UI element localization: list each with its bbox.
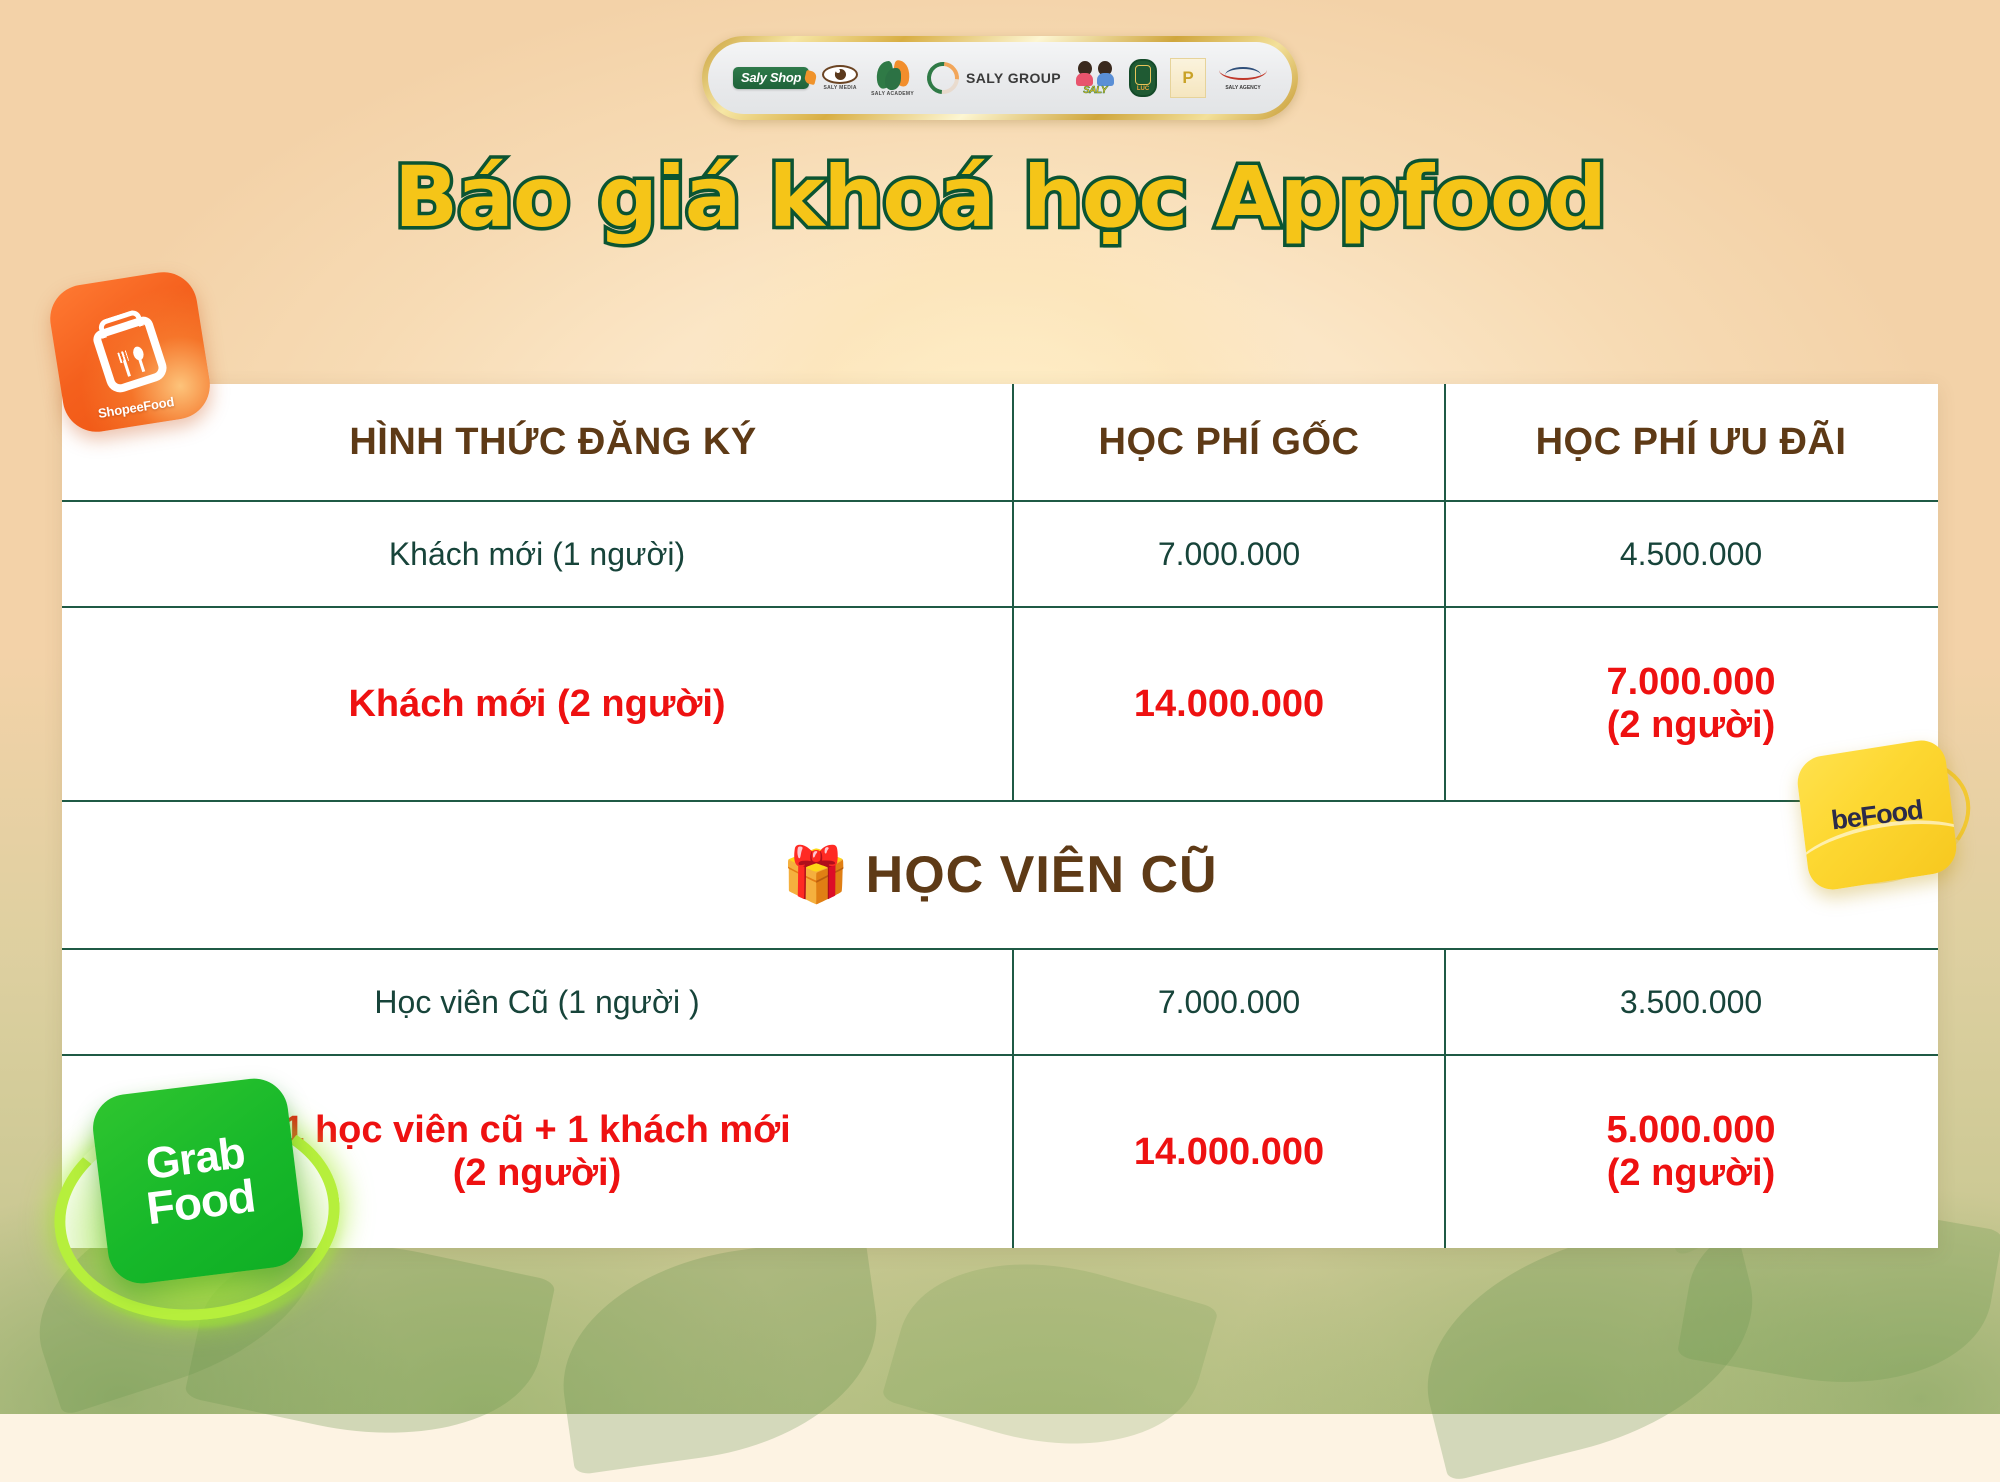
shopeefood-logo: ShopeeFood	[56, 278, 216, 433]
gift-icon: 🎁	[782, 848, 849, 902]
logo-luc: LUC	[1129, 59, 1157, 97]
befood-label: beFood	[1830, 794, 1925, 836]
logo-saly-academy-people: SALY	[1074, 60, 1116, 96]
leaf-v-icon	[876, 60, 910, 90]
logo-saly-group: SALY GROUP	[927, 62, 1061, 94]
fork-icon	[117, 350, 134, 378]
leaf-decoration	[548, 1233, 893, 1476]
befood-logo: beFood	[1802, 748, 1972, 898]
table-row: Khách mới (2 người) 14.000.000 7.000.000…	[62, 608, 1938, 802]
cell-form: Khách mới (1 người)	[389, 536, 685, 573]
cell-discount-fee: 7.000.000 (2 người)	[1606, 661, 1775, 746]
luc-label: LUC	[1137, 86, 1149, 92]
section-banner-alumni: 🎁 HỌC VIÊN CŨ	[62, 802, 1938, 950]
cell-original-fee: 14.000.000	[1134, 1131, 1324, 1174]
saly-shop-label: Saly Shop	[733, 67, 809, 89]
column-header-original-fee: HỌC PHÍ GỐC	[1099, 421, 1360, 464]
grabfood-label-line2: Food	[144, 1173, 257, 1231]
cell-form: 1 học viên cũ + 1 khách mới (2 người)	[283, 1109, 791, 1194]
two-people-icon: SALY	[1074, 60, 1116, 96]
table-header-row: HÌNH THỨC ĐĂNG KÝ HỌC PHÍ GỐC HỌC PHÍ ƯU…	[62, 384, 1938, 502]
logo-saly-media: SALY MEDIA	[822, 65, 858, 91]
cell-form: Khách mới (2 người)	[348, 683, 725, 726]
page-title: Báo giá khoá học Appfood	[0, 148, 2000, 246]
cell-discount-fee: 4.500.000	[1620, 536, 1762, 573]
leaf-decoration	[881, 1226, 1219, 1482]
cell-form: Học viên Cũ (1 người )	[374, 984, 699, 1021]
saly-media-caption: SALY MEDIA	[823, 85, 856, 91]
logo-phuc-sang: P	[1170, 58, 1206, 98]
swoosh-icon: SALY AGENCY	[1219, 65, 1267, 91]
food-bag-icon	[91, 314, 170, 396]
cell-original-fee: 7.000.000	[1158, 536, 1300, 573]
saly-group-label: SALY GROUP	[966, 70, 1061, 86]
column-header-form: HÌNH THỨC ĐĂNG KÝ	[349, 421, 756, 464]
column-header-discount-fee: HỌC PHÍ ƯU ĐÃI	[1536, 421, 1847, 464]
luc-icon: LUC	[1129, 59, 1157, 97]
table-row: Khách mới (1 người) 7.000.000 4.500.000	[62, 502, 1938, 608]
logo-saly-agency: SALY AGENCY	[1219, 65, 1267, 91]
spoon-icon	[131, 345, 149, 373]
table-row: Học viên Cũ (1 người ) 7.000.000 3.500.0…	[62, 950, 1938, 1056]
phuc-sang-icon: P	[1170, 58, 1206, 98]
cell-original-fee: 14.000.000	[1134, 683, 1324, 726]
logo-saly-shop: Saly Shop	[733, 67, 809, 89]
section-banner-label: HỌC VIÊN CŨ	[866, 845, 1218, 905]
saly-academy-caption: SALY ACADEMY	[871, 91, 914, 97]
cell-discount-fee: 3.500.000	[1620, 984, 1762, 1021]
partner-logo-bar: Saly Shop SALY MEDIA SALY ACADEMY SALY G…	[702, 36, 1298, 120]
cell-discount-fee: 5.000.000 (2 người)	[1606, 1109, 1775, 1194]
grabfood-logo: Grab Food	[48, 1052, 348, 1342]
befood-tile: beFood	[1795, 737, 1960, 893]
grabfood-tile: Grab Food	[89, 1075, 307, 1287]
saly-agency-caption: SALY AGENCY	[1219, 85, 1267, 91]
ring-icon	[920, 55, 965, 100]
saly-academy-people-label: SALY	[1074, 85, 1116, 96]
logo-saly-academy-leaf: SALY ACADEMY	[871, 60, 914, 97]
eye-icon	[822, 65, 858, 84]
cell-original-fee: 7.000.000	[1158, 984, 1300, 1021]
